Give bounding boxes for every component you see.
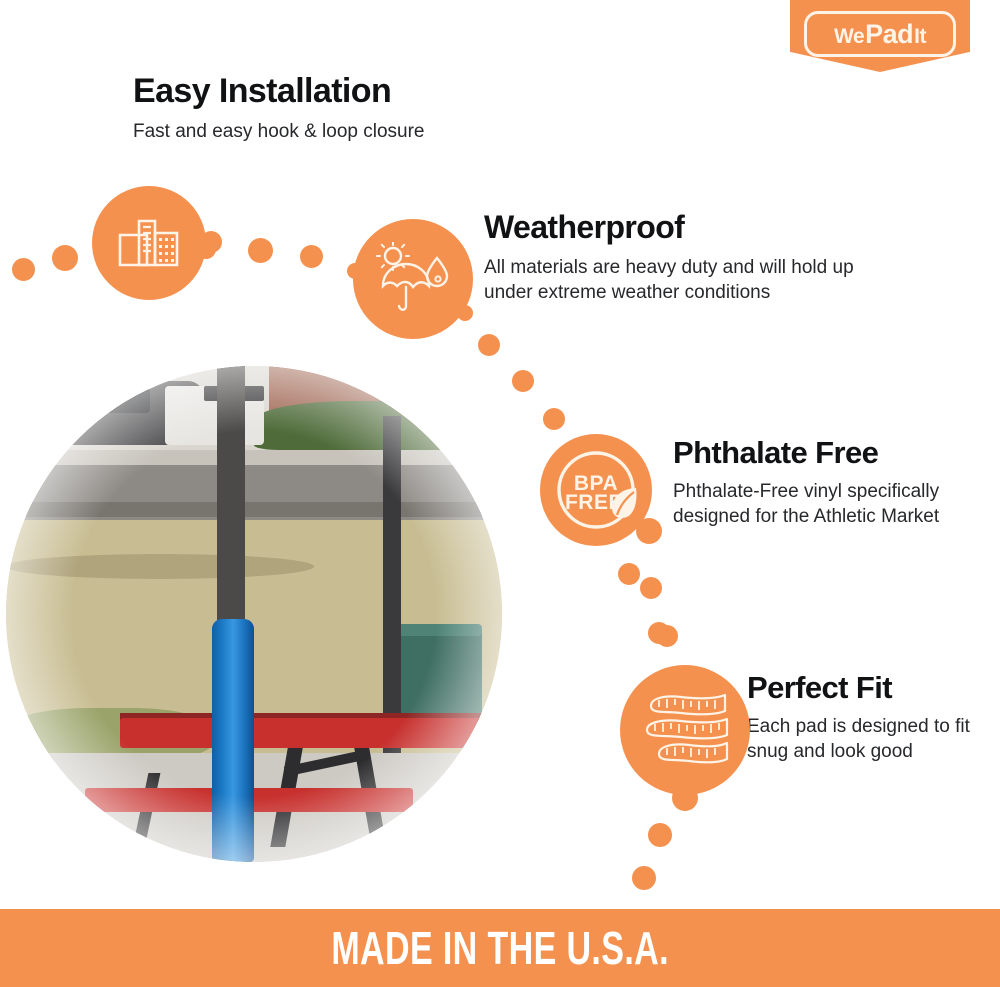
- logo-pad-text: Pad: [864, 21, 914, 48]
- logo-it-text: It: [914, 26, 926, 47]
- feature-block-easy-installation: Easy Installation Fast and easy hook & l…: [133, 74, 425, 144]
- feature-description: Fast and easy hook & loop closure: [133, 119, 425, 144]
- path-dot: [478, 334, 500, 356]
- blue-pole-pad-photo: [6, 366, 502, 862]
- measuring-tape-icon: [620, 665, 750, 795]
- path-dot: [618, 563, 640, 585]
- path-dot: [656, 625, 678, 647]
- path-dot: [12, 258, 35, 281]
- feature-description: Each pad is designed to fit snug and loo…: [747, 714, 977, 765]
- made-in-usa-banner: MADE IN THE U.S.A.: [0, 909, 1000, 987]
- path-dot: [512, 370, 534, 392]
- photo-vignette: [6, 366, 502, 862]
- logo-we-text: We: [834, 26, 864, 47]
- logo-outline-box: WePadIt: [804, 11, 956, 57]
- badge-nub: [457, 305, 473, 321]
- path-dot: [640, 577, 662, 599]
- badge-nub: [347, 263, 363, 279]
- badge-nub: [636, 518, 662, 544]
- product-infographic: WePadIt Easy Installation Fast and easy …: [0, 0, 1000, 987]
- brand-logo: WePadIt: [790, 0, 970, 72]
- feature-block-phthalate-free: Phthalate Free Phthalate-Free vinyl spec…: [673, 437, 943, 529]
- sun-umbrella-raindrop-icon: [353, 219, 473, 339]
- feature-block-weatherproof: Weatherproof All materials are heavy dut…: [484, 211, 904, 306]
- feature-title: Easy Installation: [133, 74, 425, 110]
- made-in-usa-text: MADE IN THE U.S.A.: [331, 921, 669, 975]
- feature-title: Perfect Fit: [747, 672, 977, 705]
- path-dot: [632, 866, 656, 890]
- logo-wordmark: WePadIt: [834, 21, 926, 48]
- path-dot: [300, 245, 323, 268]
- path-dot: [648, 823, 672, 847]
- badge-nub: [672, 785, 698, 811]
- feature-title: Phthalate Free: [673, 437, 943, 470]
- feature-block-perfect-fit: Perfect Fit Each pad is designed to fit …: [747, 672, 977, 764]
- building-installation-icon: [92, 186, 206, 300]
- path-dot: [543, 408, 565, 430]
- feature-description: Phthalate-Free vinyl specifically design…: [673, 479, 943, 530]
- bpa-free-leaf-icon: BPA FREE: [540, 434, 652, 546]
- feature-title: Weatherproof: [484, 211, 904, 245]
- path-dot: [248, 238, 273, 263]
- path-dot: [200, 231, 222, 253]
- feature-description: All materials are heavy duty and will ho…: [484, 255, 904, 306]
- path-dot: [52, 245, 78, 271]
